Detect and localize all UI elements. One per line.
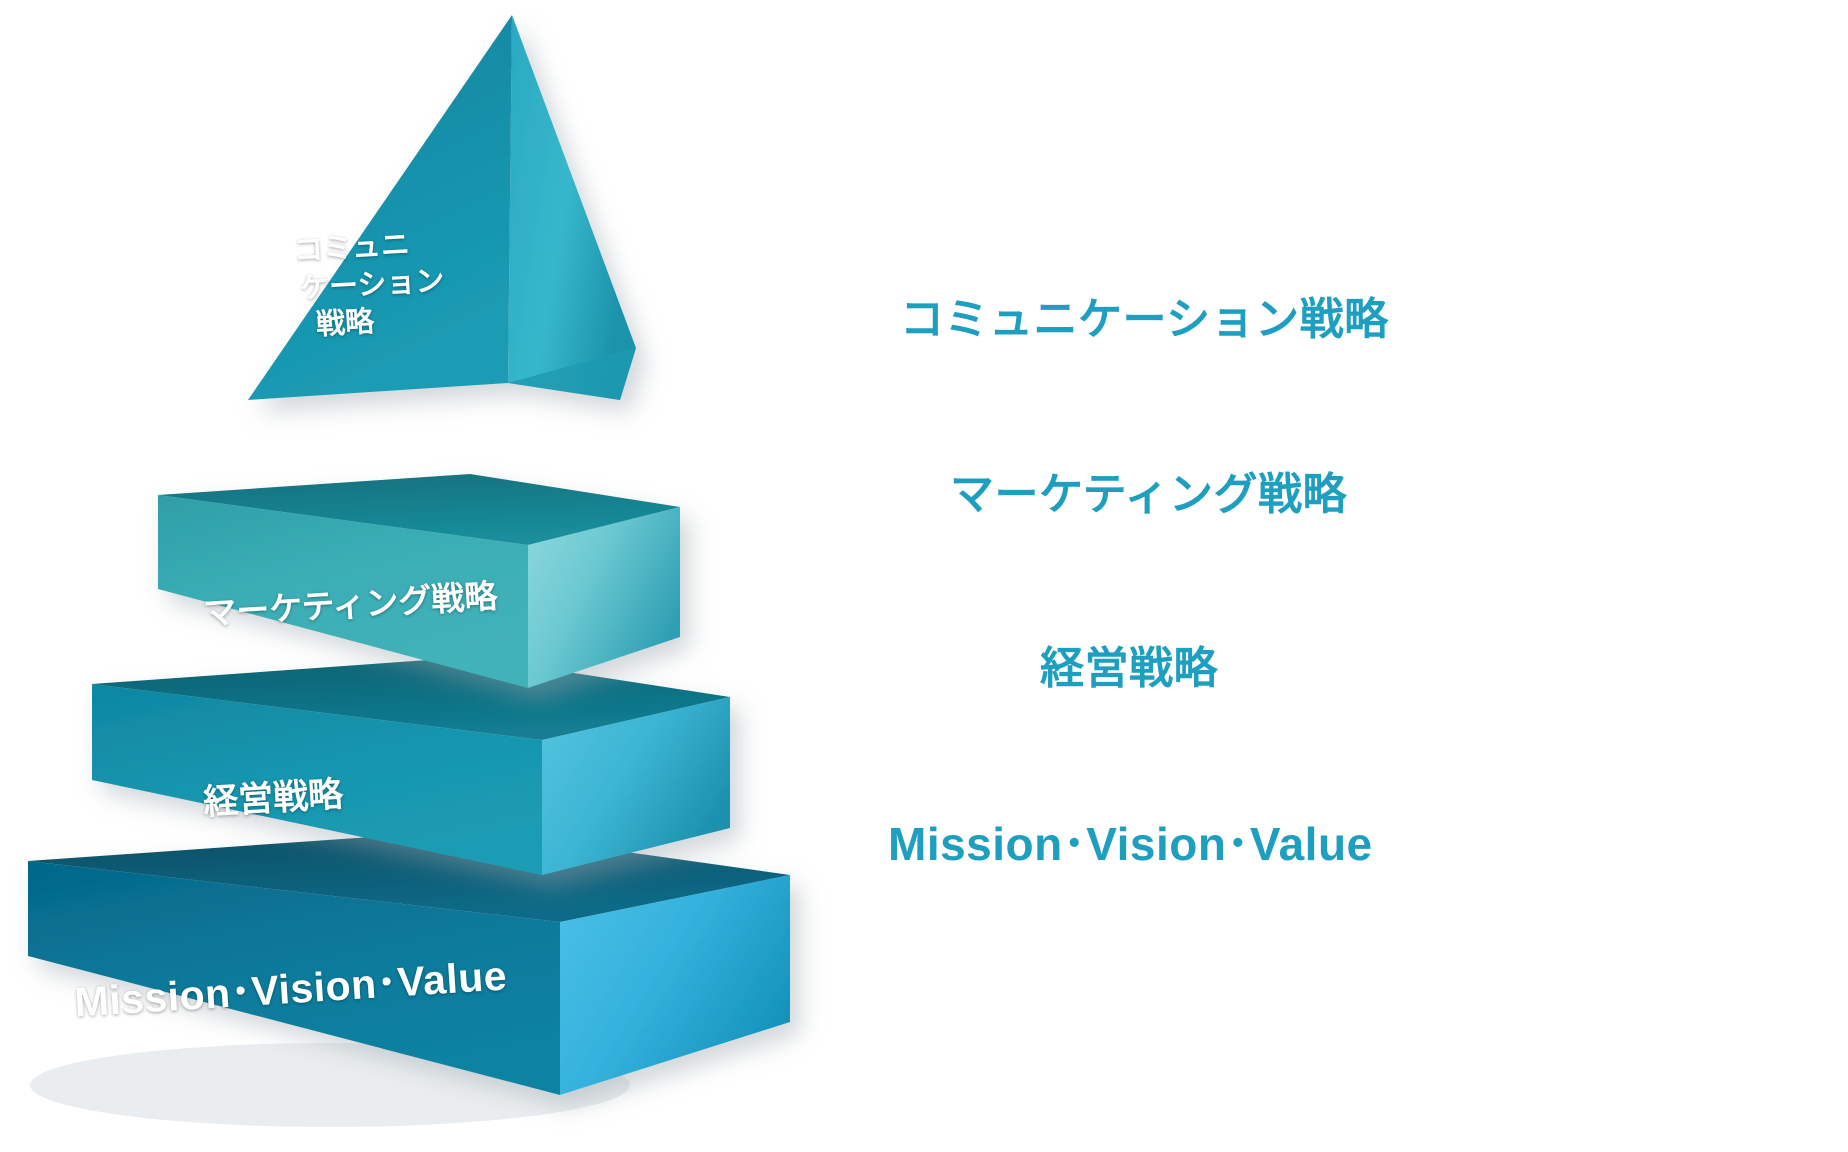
stage-title-mvv: Mission･Vision･Value	[888, 808, 1373, 874]
pyramid-panel: コミュニ ケーション 戦略 マーケティング戦略 経営戦略 Mission･Vis…	[0, 0, 900, 1152]
stage-title-marketing: マーケティング戦略	[950, 458, 1347, 522]
detail-panel: コミュニケーション戦略 メッセージ化 どうやって届けるのかを考える マーケティン…	[880, 0, 1848, 1152]
pyramid-graphic	[0, 0, 900, 1152]
stage-title-management: 経営戦略	[1040, 632, 1218, 696]
pyramid-tier-marketing-group	[158, 474, 680, 688]
pyramid-tier-management-group	[92, 657, 730, 875]
pyramid-tier-communication-group	[248, 15, 636, 400]
stage-title-communication: コミュニケーション戦略	[900, 283, 1389, 347]
